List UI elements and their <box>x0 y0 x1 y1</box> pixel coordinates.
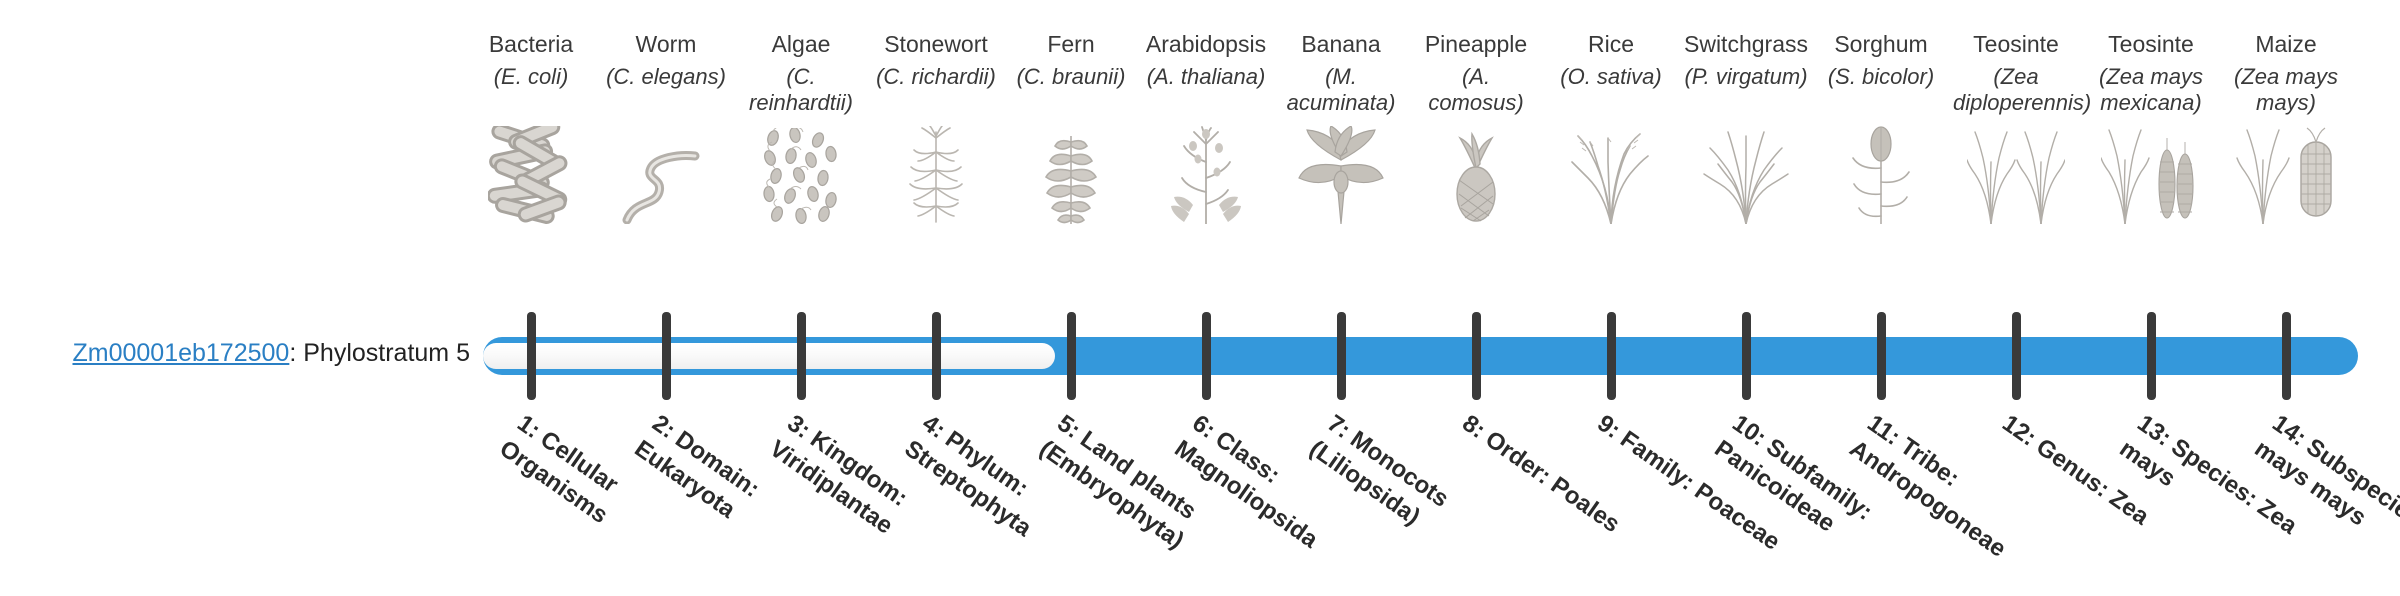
stratum-tick[interactable] <box>2012 312 2021 400</box>
teosinte-mexicana-icon <box>2101 126 2201 224</box>
species-common-name: Arabidopsis <box>1143 30 1269 60</box>
arabidopsis-icon <box>1169 126 1243 224</box>
species-column: Banana(M. acuminata) <box>1278 30 1404 224</box>
species-scientific-name: (C. richardii) <box>873 64 999 120</box>
arabidopsis-icon <box>1143 124 1269 224</box>
sorghum-icon <box>1848 126 1914 224</box>
stonewort-icon <box>897 126 975 224</box>
stratum-tick[interactable] <box>2282 312 2291 400</box>
switchgrass-icon <box>1702 126 1790 224</box>
species-scientific-name: (Zea mays mays) <box>2223 64 2349 120</box>
worm-icon <box>603 124 729 224</box>
species-scientific-name: (Zea diploperennis) <box>1953 64 2079 120</box>
stratum-tick[interactable] <box>1337 312 1346 400</box>
stratum-tick[interactable] <box>932 312 941 400</box>
stratum-tick[interactable] <box>1472 312 1481 400</box>
species-scientific-name: (A. comosus) <box>1413 64 1539 120</box>
gene-label-separator: : <box>289 339 303 367</box>
banana-icon <box>1298 126 1384 224</box>
species-scientific-name: (A. thaliana) <box>1143 64 1269 120</box>
teosinte-diplo-icon <box>1953 124 2079 224</box>
stratum-tick[interactable] <box>1742 312 1751 400</box>
species-column: Algae(C. reinhardtii) <box>738 30 864 224</box>
pineapple-icon <box>1445 126 1507 224</box>
species-common-name: Pineapple <box>1413 30 1539 60</box>
sorghum-icon <box>1818 124 1944 224</box>
species-scientific-name: (Zea mays mexicana) <box>2088 64 2214 120</box>
teosinte-mexicana-icon <box>2088 124 2214 224</box>
species-column: Arabidopsis(A. thaliana) <box>1143 30 1269 224</box>
species-column: Pineapple(A. comosus) <box>1413 30 1539 224</box>
stratum-tick[interactable] <box>1607 312 1616 400</box>
maize-icon <box>2235 126 2337 224</box>
species-common-name: Banana <box>1278 30 1404 60</box>
species-column: Rice(O. sativa) <box>1548 30 1674 224</box>
species-scientific-name: (C. elegans) <box>603 64 729 120</box>
teosinte-diplo-icon <box>1967 126 2065 224</box>
maize-icon <box>2223 124 2349 224</box>
algae-icon <box>738 124 864 224</box>
rice-icon <box>1548 124 1674 224</box>
fern-icon <box>1029 126 1113 224</box>
species-column: Bacteria(E. coli) <box>468 30 594 224</box>
species-common-name: Sorghum <box>1818 30 1944 60</box>
species-column: Worm(C. elegans) <box>603 30 729 224</box>
species-column: Stonewort(C. richardii) <box>873 30 999 224</box>
stratum-tick[interactable] <box>1067 312 1076 400</box>
species-common-name: Algae <box>738 30 864 60</box>
species-common-name: Worm <box>603 30 729 60</box>
species-column: Fern(C. braunii) <box>1008 30 1134 224</box>
gene-id-link[interactable]: Zm00001eb172500 <box>72 339 289 367</box>
species-scientific-name: (O. sativa) <box>1548 64 1674 120</box>
algae-icon <box>761 128 841 224</box>
species-column: Teosinte(Zea mays mexicana) <box>2088 30 2214 224</box>
species-common-name: Stonewort <box>873 30 999 60</box>
species-common-name: Maize <box>2223 30 2349 60</box>
species-scientific-name: (E. coli) <box>468 64 594 120</box>
stratum-tick[interactable] <box>1877 312 1886 400</box>
species-common-name: Fern <box>1008 30 1134 60</box>
phylostratum-bar-unfilled <box>483 343 1055 369</box>
bacteria-icon <box>468 124 594 224</box>
species-scientific-name: (C. reinhardtii) <box>738 64 864 120</box>
rice-icon <box>1568 126 1654 224</box>
species-common-name: Teosinte <box>1953 30 2079 60</box>
stonewort-icon <box>873 124 999 224</box>
species-column: Sorghum(S. bicolor) <box>1818 30 1944 224</box>
species-column: Maize(Zea mays mays) <box>2223 30 2349 224</box>
stratum-tick[interactable] <box>662 312 671 400</box>
fern-icon <box>1008 124 1134 224</box>
species-scientific-name: (P. virgatum) <box>1683 64 1809 120</box>
phylostratum-figure: Zm00001eb172500: Phylostratum 5 Bacteria… <box>0 0 2400 580</box>
species-common-name: Switchgrass <box>1683 30 1809 60</box>
stratum-tick[interactable] <box>1202 312 1211 400</box>
bacteria-icon <box>488 126 574 224</box>
species-scientific-name: (C. braunii) <box>1008 64 1134 120</box>
switchgrass-icon <box>1683 124 1809 224</box>
species-scientific-name: (M. acuminata) <box>1278 64 1404 120</box>
phylostratum-value: Phylostratum 5 <box>303 339 470 367</box>
species-common-name: Bacteria <box>468 30 594 60</box>
species-common-name: Teosinte <box>2088 30 2214 60</box>
species-column: Switchgrass(P. virgatum) <box>1683 30 1809 224</box>
stratum-tick[interactable] <box>2147 312 2156 400</box>
gene-phylostratum-label: Zm00001eb172500: Phylostratum 5 <box>40 338 470 368</box>
species-scientific-name: (S. bicolor) <box>1818 64 1944 120</box>
species-column: Teosinte(Zea diploperennis) <box>1953 30 2079 224</box>
stratum-tick[interactable] <box>527 312 536 400</box>
banana-icon <box>1278 124 1404 224</box>
stratum-tick[interactable] <box>797 312 806 400</box>
species-common-name: Rice <box>1548 30 1674 60</box>
pineapple-icon <box>1413 124 1539 224</box>
worm-icon <box>621 150 711 224</box>
